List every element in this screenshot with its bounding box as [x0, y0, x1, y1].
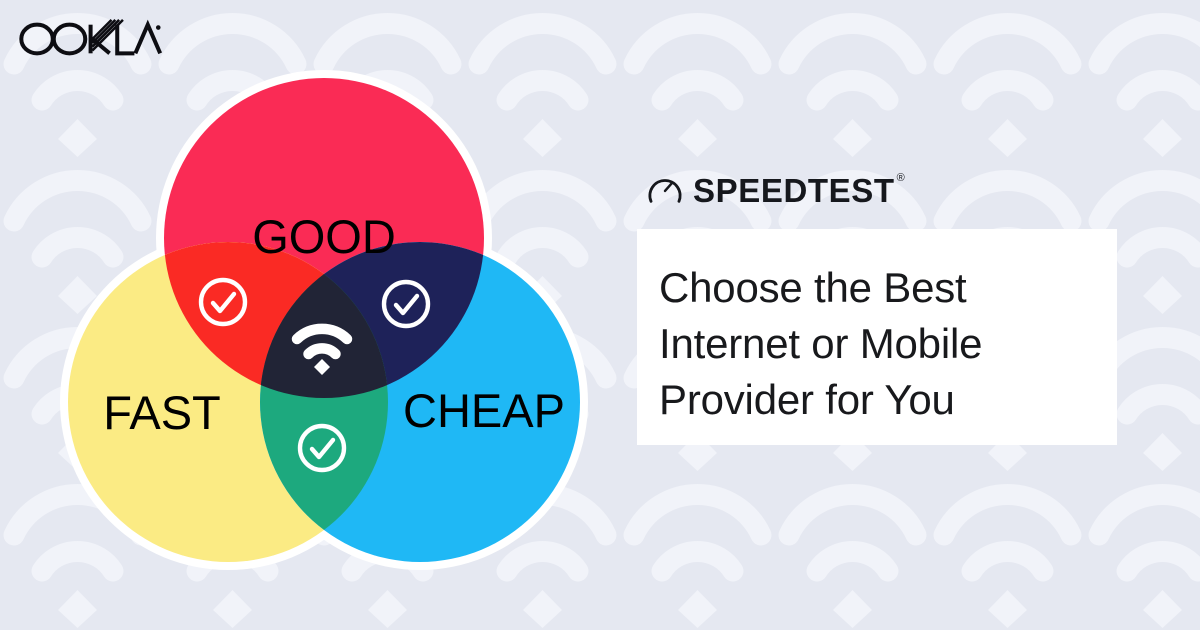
headline-line-2: Internet or Mobile — [659, 316, 1089, 372]
venn-label-fast: FAST — [103, 386, 221, 439]
registered-trademark-icon: ® — [897, 172, 905, 184]
headline-card: Choose the Best Internet or Mobile Provi… — [637, 229, 1117, 445]
page-headline: Choose the Best Internet or Mobile Provi… — [659, 260, 1089, 428]
ookla-logo — [18, 18, 163, 60]
venn-label-cheap: CHEAP — [403, 384, 565, 437]
right-content-column: SPEEDTEST ® Choose the Best Internet or … — [637, 168, 1127, 445]
venn-label-good: GOOD — [252, 210, 396, 263]
promo-graphic-canvas: GOOD FAST CHEAP SPEEDTEST ® Choose the B… — [0, 0, 1200, 630]
headline-line-1: Choose the Best — [659, 260, 1089, 316]
speedometer-gauge-icon — [648, 173, 682, 207]
headline-line-3: Provider for You — [659, 372, 1089, 428]
speedtest-logo-lockup: SPEEDTEST ® — [637, 168, 1127, 212]
speedtest-wordmark: SPEEDTEST — [693, 174, 895, 207]
venn-diagram: GOOD FAST CHEAP — [52, 62, 597, 572]
